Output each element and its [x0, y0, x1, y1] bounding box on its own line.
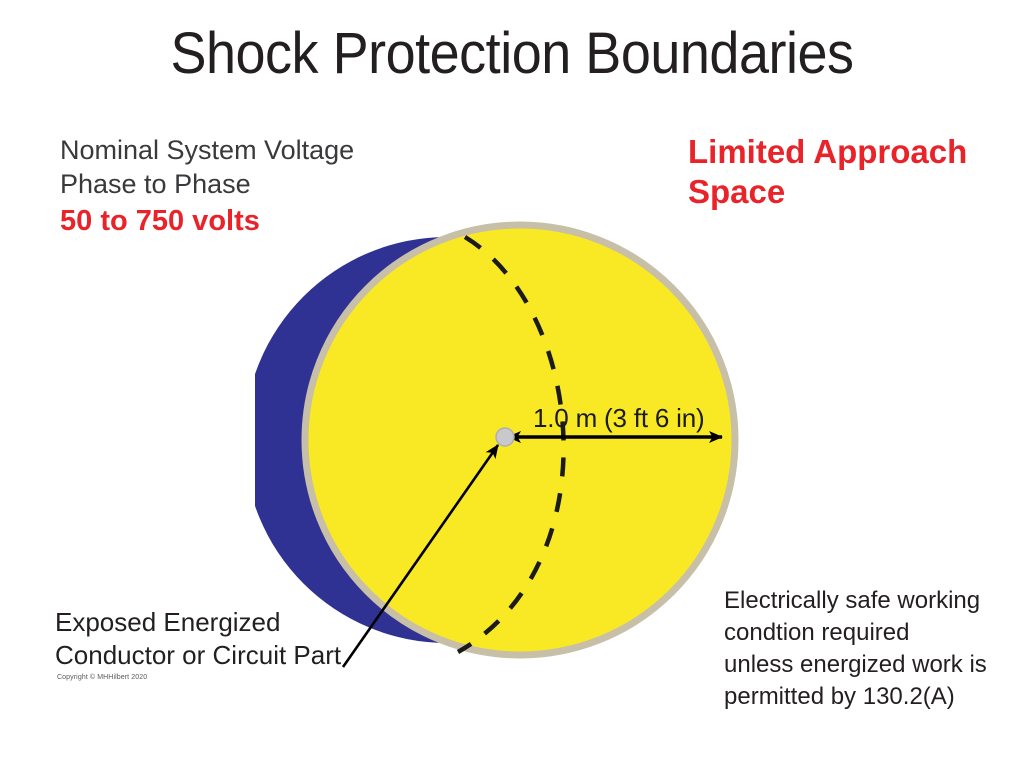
limited-approach-space-label: Limited Approach Space	[688, 132, 1008, 212]
page-title: Shock Protection Boundaries	[36, 22, 988, 86]
limited-approach-line-1: Limited Approach	[688, 132, 1008, 172]
safe-work-line-2: condtion required	[724, 617, 1024, 649]
exposed-conductor-line-2: Conductor or Circuit Part	[55, 639, 395, 672]
nominal-voltage-line-1: Nominal System Voltage	[60, 133, 420, 167]
safe-work-line-1: Electrically safe working	[724, 585, 1024, 617]
safe-work-line-4: permitted by 130.2(A)	[724, 681, 1024, 713]
dimension-label: 1.0 m (3 ft 6 in)	[533, 403, 704, 433]
exposed-conductor-caption: Exposed Energized Conductor or Circuit P…	[55, 606, 395, 672]
slide-canvas: Shock Protection Boundaries Nominal Syst…	[0, 0, 1024, 769]
nominal-voltage-line-2: Phase to Phase	[60, 167, 420, 201]
exposed-conductor-center-dot	[496, 428, 514, 446]
safe-work-condition-note: Electrically safe working condtion requi…	[724, 585, 1024, 713]
safe-work-line-3: unless energized work is	[724, 649, 1024, 681]
copyright-notice: Copyright © MHHilbert 2020	[57, 673, 147, 682]
exposed-conductor-line-1: Exposed Energized	[55, 606, 395, 639]
